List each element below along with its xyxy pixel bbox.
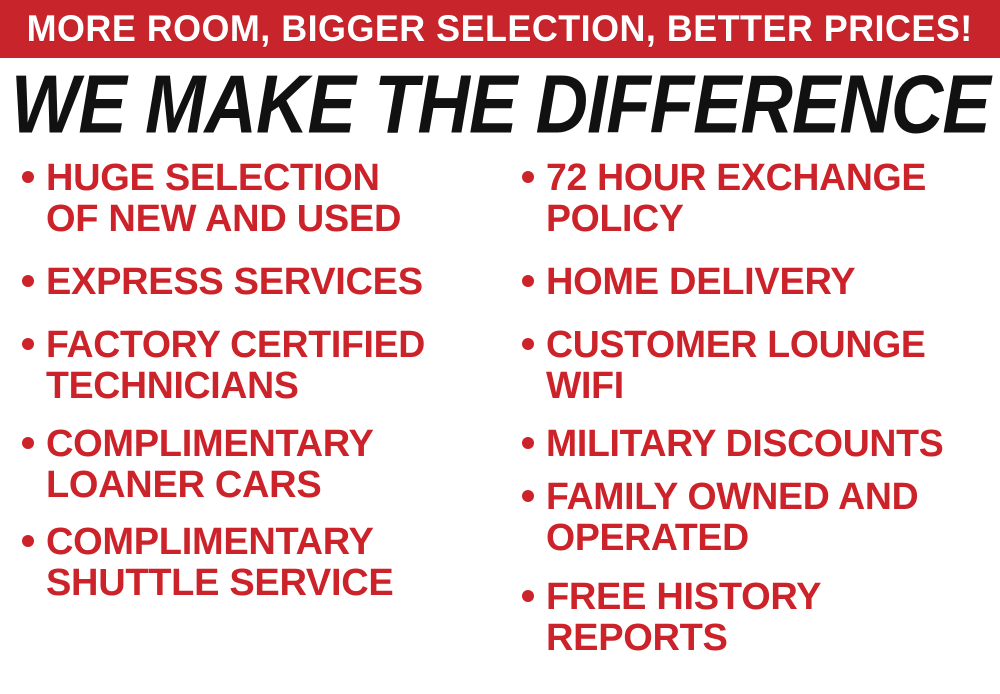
feature-column-left: HUGE SELECTION OF NEW AND USED EXPRESS S… <box>8 152 500 694</box>
headline-block: WE MAKE THE DIFFERENCE <box>0 64 1000 144</box>
list-item: MILITARY DISCOUNTS <box>508 424 1000 465</box>
list-item-label: CUSTOMER LOUNGE WIFI <box>546 325 993 407</box>
promo-banner: MORE ROOM, BIGGER SELECTION, BETTER PRIC… <box>0 0 1000 694</box>
list-item-label: FREE HISTORY REPORTS <box>546 577 1000 659</box>
bullet-dot-icon <box>522 338 534 350</box>
bullet-dot-icon <box>22 535 34 547</box>
bullet-dot-icon <box>22 275 34 287</box>
list-item: EXPRESS SERVICES <box>8 262 500 303</box>
list-item-label: FACTORY CERTIFIED TECHNICIANS <box>46 325 493 407</box>
list-item: FAMILY OWNED AND OPERATED <box>508 477 1000 559</box>
list-item: COMPLIMENTARY SHUTTLE SERVICE <box>8 522 500 604</box>
bullet-dot-icon <box>522 490 534 502</box>
top-announcement-text: MORE ROOM, BIGGER SELECTION, BETTER PRIC… <box>27 10 973 48</box>
list-item: 72 HOUR EXCHANGE POLICY <box>508 158 1000 240</box>
bullet-dot-icon <box>522 437 534 449</box>
list-item-label: HOME DELIVERY <box>546 262 1000 303</box>
list-item-label: 72 HOUR EXCHANGE POLICY <box>546 158 993 240</box>
feature-columns: HUGE SELECTION OF NEW AND USED EXPRESS S… <box>0 152 1000 694</box>
bullet-dot-icon <box>22 171 34 183</box>
list-item: FREE HISTORY REPORTS <box>508 577 1000 659</box>
list-item-label: HUGE SELECTION OF NEW AND USED <box>46 158 500 240</box>
list-item: CUSTOMER LOUNGE WIFI <box>508 325 1000 407</box>
bullet-dot-icon <box>22 338 34 350</box>
list-item-label: COMPLIMENTARY SHUTTLE SERVICE <box>46 522 500 604</box>
bullet-dot-icon <box>522 590 534 602</box>
list-item: HOME DELIVERY <box>508 262 1000 303</box>
list-item-label: COMPLIMENTARY LOANER CARS <box>46 424 500 506</box>
list-item-label: MILITARY DISCOUNTS <box>546 424 993 465</box>
bullet-dot-icon <box>22 437 34 449</box>
list-item-label: FAMILY OWNED AND OPERATED <box>546 477 993 559</box>
bullet-dot-icon <box>522 275 534 287</box>
top-announcement-strip: MORE ROOM, BIGGER SELECTION, BETTER PRIC… <box>0 0 1000 58</box>
bullet-dot-icon <box>522 171 534 183</box>
page-title: WE MAKE THE DIFFERENCE <box>11 62 990 147</box>
list-item: FACTORY CERTIFIED TECHNICIANS <box>8 325 500 407</box>
list-item: HUGE SELECTION OF NEW AND USED <box>8 158 500 240</box>
feature-column-right: 72 HOUR EXCHANGE POLICY HOME DELIVERY CU… <box>508 152 1000 694</box>
list-item-label: EXPRESS SERVICES <box>46 262 500 303</box>
list-item: COMPLIMENTARY LOANER CARS <box>8 424 500 506</box>
